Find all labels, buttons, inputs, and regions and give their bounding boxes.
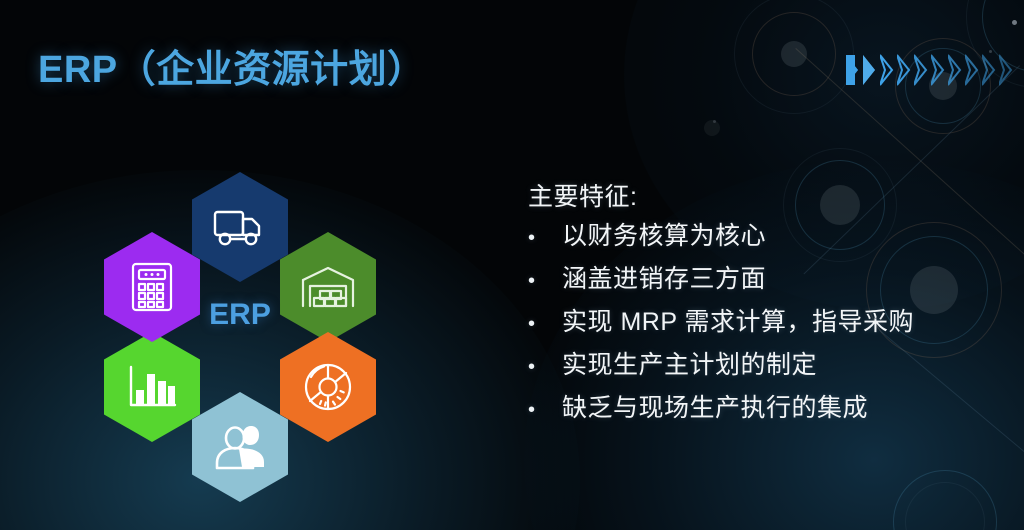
chevron-right-icon — [948, 53, 970, 87]
list-item-label: 以财务核算为核心 — [562, 224, 998, 249]
ring-decoration — [905, 48, 981, 124]
hex-node-finance[interactable] — [104, 232, 200, 342]
chevron-right-icon — [863, 53, 885, 87]
chevron-arrow-strip — [846, 52, 1016, 88]
ring-decoration — [734, 0, 854, 114]
speck-dot — [989, 50, 992, 53]
bullet-marker: • — [528, 400, 562, 420]
chevron-right-icon — [846, 53, 868, 87]
list-item-label: 实现 MRP 需求计算，指导采购 — [562, 310, 998, 335]
ring-decoration — [982, 0, 1024, 72]
calculator-icon — [130, 261, 174, 313]
ring-decoration — [966, 0, 1024, 88]
speck-dot — [713, 120, 716, 123]
hex-node-reporting[interactable] — [104, 332, 200, 442]
ring-core-dot — [929, 72, 957, 100]
diagram-center-label: ERP — [190, 298, 290, 332]
bullet-marker: • — [528, 271, 562, 291]
list-item: • 实现 MRP 需求计算，指导采购 — [528, 310, 998, 335]
list-item-label: 涵盖进销存三方面 — [562, 267, 998, 292]
speck-dot — [704, 120, 720, 136]
ring-decoration — [893, 470, 997, 530]
chevron-right-icon — [914, 53, 936, 87]
warehouse-icon — [300, 264, 356, 310]
features-list: • 以财务核算为核心 • 涵盖进销存三方面 • 实现 MRP 需求计算，指导采购… — [528, 224, 998, 421]
ring-decoration — [895, 38, 991, 134]
users-icon — [212, 423, 268, 471]
list-item: • 涵盖进销存三方面 — [528, 267, 998, 292]
donut-chart-icon — [302, 361, 354, 413]
chevron-right-icon — [931, 53, 953, 87]
bar-chart-icon — [126, 364, 178, 410]
features-heading: 主要特征: — [528, 182, 998, 212]
bullet-marker: • — [528, 228, 562, 248]
bullet-marker: • — [528, 357, 562, 377]
chevron-right-icon — [999, 53, 1021, 87]
chevron-right-icon — [897, 53, 919, 87]
hex-node-warehouse[interactable] — [280, 232, 376, 342]
list-item: • 以财务核算为核心 — [528, 224, 998, 249]
features-panel: 主要特征: • 以财务核算为核心 • 涵盖进销存三方面 • 实现 MRP 需求计… — [528, 182, 998, 439]
list-item-label: 实现生产主计划的制定 — [562, 353, 998, 378]
list-item-label: 缺乏与现场生产执行的集成 — [562, 396, 998, 421]
speck-dot — [1012, 20, 1017, 25]
hex-node-analytics[interactable] — [280, 332, 376, 442]
chevron-right-icon — [880, 53, 902, 87]
list-item: • 缺乏与现场生产执行的集成 — [528, 396, 998, 421]
list-item: • 实现生产主计划的制定 — [528, 353, 998, 378]
hex-node-logistics[interactable] — [192, 172, 288, 282]
erp-hexagon-diagram: ERP — [70, 160, 410, 500]
bullet-marker: • — [528, 314, 562, 334]
ring-core-dot — [781, 41, 807, 67]
ring-decoration — [905, 482, 985, 530]
chevron-right-icon — [982, 53, 1004, 87]
chevron-right-icon — [965, 53, 987, 87]
slide-canvas: ERP（企业资源计划） — [0, 0, 1024, 530]
truck-icon — [213, 205, 267, 249]
page-title: ERP（企业资源计划） — [38, 38, 426, 93]
ring-decoration — [752, 12, 836, 96]
hex-node-people[interactable] — [192, 392, 288, 502]
